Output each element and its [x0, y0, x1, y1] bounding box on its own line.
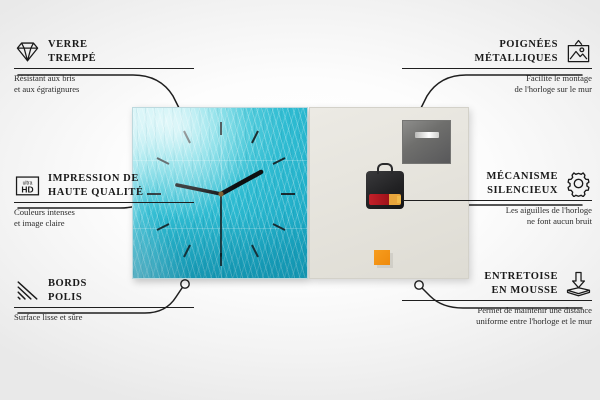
feature-desc-line2: et aux égratignures — [14, 84, 79, 94]
feature-desc-line2: et image claire — [14, 218, 65, 228]
feature-desc-line1: Facilite le montage — [526, 73, 592, 83]
ultra-hd-icon: ultra HD — [14, 172, 41, 199]
feature-title-line1: ENTRETOISE — [484, 271, 558, 282]
feature-rule — [14, 68, 194, 69]
feature-rule — [402, 68, 592, 69]
feature-entretoise-en-mousse: ENTRETOISE EN MOUSSE Permet de maintenir… — [402, 270, 592, 327]
feature-rule — [14, 202, 194, 203]
clock-center-cap — [218, 191, 223, 196]
feature-title-line2: MÉTALLIQUES — [475, 53, 558, 64]
feature-title-line1: POIGNÉES — [499, 39, 558, 50]
feature-title-line1: BORDS — [48, 278, 87, 289]
feature-desc-line1: Couleurs intenses — [14, 207, 75, 217]
clock-hour-hand — [221, 172, 261, 194]
feature-poignees-metalliques: POIGNÉES MÉTALLIQUES Facilite le montage… — [402, 38, 592, 95]
feature-rule — [402, 200, 592, 201]
foam-spacer-part — [374, 250, 390, 265]
feature-desc-line1: Les aiguilles de l'horloge — [506, 205, 592, 215]
feature-title-line2: SILENCIEUX — [487, 185, 558, 196]
polished-edges-icon — [14, 277, 41, 304]
feature-title-line2: TREMPÉ — [48, 53, 96, 64]
feature-title-line1: IMPRESSION DE — [48, 173, 139, 184]
feature-desc-line1: Surface lisse et sûre — [14, 312, 83, 322]
feature-verre-trempe: VERRE TREMPÉ Résistant aux bris et aux é… — [14, 38, 194, 95]
clock-mechanism-part — [366, 171, 404, 209]
feature-rule — [14, 307, 194, 308]
feature-desc-line2: uniforme entre l'horloge et le mur — [476, 316, 592, 326]
metal-hanger-part — [402, 120, 451, 164]
foam-spacer-icon — [565, 270, 592, 297]
feature-title-line2: HAUTE QUALITÉ — [48, 187, 144, 198]
feature-impression-haute-qualite: ultra HD IMPRESSION DE HAUTE QUALITÉ Cou… — [14, 172, 194, 229]
picture-hanger-icon — [565, 38, 592, 65]
feature-bords-polis: BORDS POLIS Surface lisse et sûre — [14, 277, 194, 323]
feature-desc-line1: Permet de maintenir une distance — [477, 305, 592, 315]
diamond-icon — [14, 38, 41, 65]
feature-desc-line1: Résistant aux bris — [14, 73, 75, 83]
feature-desc-line2: ne font aucun bruit — [527, 216, 592, 226]
infographic-stage: VERRE TREMPÉ Résistant aux bris et aux é… — [0, 0, 600, 400]
feature-rule — [402, 300, 592, 301]
feature-mecanisme-silencieux: MÉCANISME SILENCIEUX Les aiguilles de l'… — [402, 170, 592, 227]
battery-part — [369, 194, 401, 205]
feature-title-line2: EN MOUSSE — [491, 285, 558, 296]
feature-title-line1: MÉCANISME — [487, 171, 558, 182]
ultra-hd-icon-big-label: HD — [21, 185, 33, 195]
feature-desc-line2: de l'horloge sur le mur — [515, 84, 592, 94]
gear-icon — [565, 170, 592, 197]
feature-title-line2: POLIS — [48, 292, 82, 303]
feature-title-line1: VERRE — [48, 39, 88, 50]
